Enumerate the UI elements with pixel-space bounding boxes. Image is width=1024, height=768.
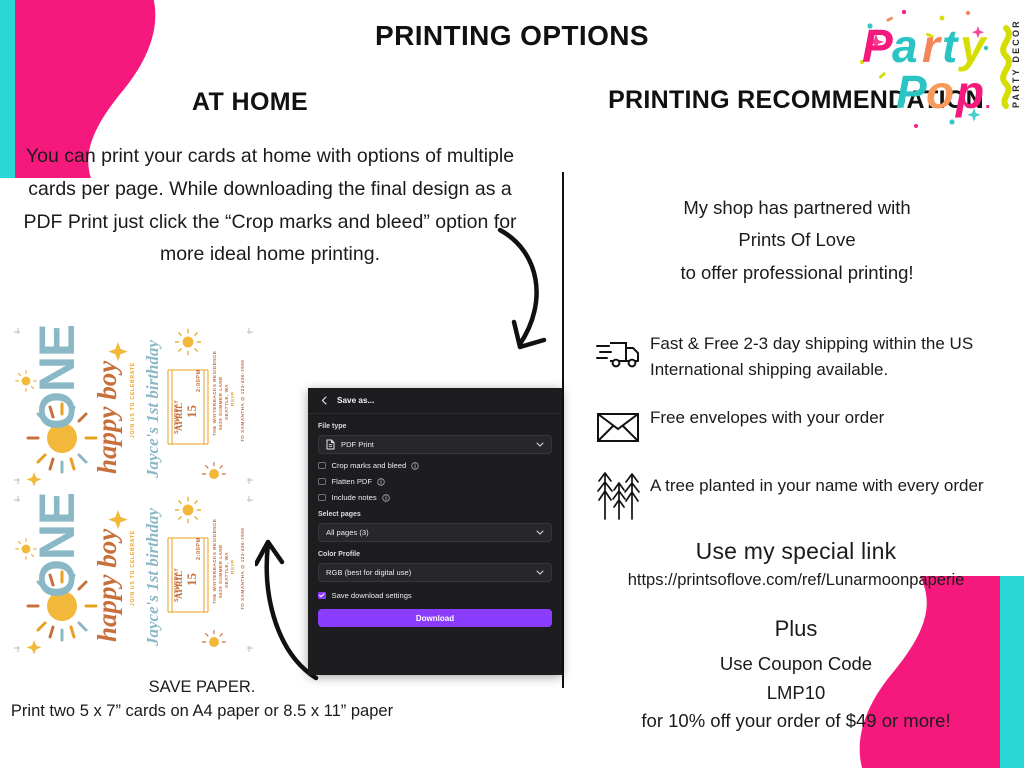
svg-text:SEATTLE, WA: SEATTLE, WA — [224, 384, 229, 420]
select-pages-value: All pages (3) — [326, 528, 369, 537]
coupon-code: LMP10 — [586, 679, 1006, 708]
column-divider — [562, 172, 564, 688]
svg-text:2:00PM: 2:00PM — [196, 537, 202, 560]
svg-text:RSVP: RSVP — [230, 559, 235, 574]
card-artwork-top: ONE happy boy JOIN US TO CELEBRATE Jayce… — [12, 326, 255, 486]
special-link-heading: Use my special link — [586, 538, 1006, 565]
save-paper-caption: SAVE PAPER. Print two 5 x 7” cards on A4… — [2, 676, 402, 724]
svg-text:r: r — [922, 20, 942, 72]
perk-tree: A tree planted in your name with every o… — [596, 472, 1006, 518]
dialog-header: Save as... — [308, 388, 562, 414]
svg-text:t: t — [942, 20, 959, 72]
file-icon — [326, 439, 335, 450]
dialog-title: Save as... — [337, 396, 374, 405]
coupon-line-1: Use Coupon Code — [586, 650, 1006, 679]
card-preview-top: ONE happy boy JOIN US TO CELEBRATE Jayce… — [12, 326, 255, 486]
select-pages-select[interactable]: All pages (3) — [318, 523, 552, 542]
svg-text:SEATTLE, WA: SEATTLE, WA — [224, 552, 229, 588]
chevron-down-icon[interactable] — [536, 528, 544, 537]
rec-line-3: to offer professional printing! — [592, 257, 1002, 289]
svg-text:o: o — [926, 66, 954, 118]
color-profile-value: RGB (best for digital use) — [326, 568, 411, 577]
save-as-dialog[interactable]: Save as... File type PDF Print — [308, 388, 562, 675]
coupon-block: Use Coupon Code LMP10 for 10% off your o… — [586, 650, 1006, 736]
file-type-value: PDF Print — [341, 440, 374, 449]
svg-text:15: 15 — [184, 405, 199, 419]
coupon-line-3: for 10% off your order of $49 or more! — [586, 707, 1006, 736]
checkbox-flatten-pdf-box[interactable] — [318, 478, 326, 486]
chevron-left-icon[interactable] — [318, 394, 331, 407]
svg-text:PARTY DECOR: PARTY DECOR — [1011, 19, 1021, 108]
save-paper-line-1: SAVE PAPER. — [2, 676, 402, 700]
svg-text:TO SAMANTHA @ 123-456-7899: TO SAMANTHA @ 123-456-7899 — [240, 528, 245, 610]
svg-text:.: . — [985, 91, 991, 113]
svg-text:p: p — [954, 66, 984, 118]
card-preview-bottom: ONE happy boy JOIN US TO CELEBRATE Jayce… — [12, 494, 255, 654]
card-artwork-bottom: ONE happy boy JOIN US TO CELEBRATE Jayce… — [12, 494, 255, 654]
svg-text:5628 SUMMER LANE: 5628 SUMMER LANE — [218, 376, 223, 430]
rec-line-2: Prints Of Love — [592, 224, 1002, 256]
checkbox-crop-marks-box[interactable] — [318, 462, 326, 470]
file-type-label: File type — [318, 423, 552, 430]
select-pages-label: Select pages — [318, 511, 552, 518]
checkbox-include-notes[interactable]: Include notes — [318, 493, 552, 502]
svg-text:a: a — [892, 20, 918, 72]
checkbox-include-notes-label: Include notes — [332, 493, 377, 502]
svg-text:ONE: ONE — [29, 494, 85, 598]
chevron-down-icon[interactable] — [536, 440, 544, 449]
spacer — [318, 542, 552, 551]
perk-shipping-text: Fast & Free 2-3 day shipping within the … — [650, 330, 1006, 382]
svg-text:APRIL: APRIL — [174, 403, 184, 431]
perk-envelopes-text: Free envelopes with your order — [650, 404, 884, 431]
checkbox-crop-marks-label: Crop marks and bleed — [332, 461, 407, 470]
checkbox-include-notes-box[interactable] — [318, 494, 326, 502]
svg-text:Jayce's 1st birthday: Jayce's 1st birthday — [143, 340, 162, 479]
info-icon[interactable] — [411, 462, 419, 470]
perk-tree-text: A tree planted in your name with every o… — [650, 472, 984, 499]
svg-text:happy boy: happy boy — [92, 528, 122, 642]
svg-text:RSVP: RSVP — [230, 391, 235, 406]
special-link-block: Use my special link https://printsoflove… — [586, 538, 1006, 736]
at-home-body: You can print your cards at home with op… — [22, 140, 518, 271]
perks-list: Fast & Free 2-3 day shipping within the … — [596, 330, 1006, 540]
special-link-url[interactable]: https://printsoflove.com/ref/Lunarmoonpa… — [586, 571, 1006, 590]
svg-text:5628 SUMMER LANE: 5628 SUMMER LANE — [218, 544, 223, 598]
brand-logo: P a r t y P o p . PARTY DECOR — [856, 4, 1024, 134]
truck-icon — [596, 330, 650, 376]
info-icon[interactable] — [377, 478, 385, 486]
envelope-icon — [596, 404, 650, 450]
info-icon[interactable] — [382, 494, 390, 502]
chevron-down-icon[interactable] — [536, 568, 544, 577]
download-button[interactable]: Download — [318, 609, 552, 627]
trees-icon — [596, 472, 650, 518]
checkbox-save-settings[interactable]: Save download settings — [318, 591, 552, 600]
perk-shipping: Fast & Free 2-3 day shipping within the … — [596, 330, 1006, 382]
svg-text:JOIN US TO CELEBRATE: JOIN US TO CELEBRATE — [130, 362, 136, 438]
svg-text:ONE: ONE — [29, 326, 85, 430]
printing-recommendation-body: My shop has partnered with Prints Of Lov… — [592, 192, 1002, 289]
perk-envelopes: Free envelopes with your order — [596, 404, 1006, 450]
color-profile-label: Color Profile — [318, 551, 552, 558]
color-profile-select[interactable]: RGB (best for digital use) — [318, 563, 552, 582]
svg-text:TO SAMANTHA @ 123-456-7899: TO SAMANTHA @ 123-456-7899 — [240, 360, 245, 442]
checkbox-save-settings-label: Save download settings — [332, 591, 412, 600]
svg-text:y: y — [958, 20, 988, 72]
svg-text:JOIN US TO CELEBRATE: JOIN US TO CELEBRATE — [130, 530, 136, 606]
svg-text:THE WINTERBACKS RESIDENCE: THE WINTERBACKS RESIDENCE — [212, 351, 217, 437]
checkbox-flatten-pdf[interactable]: Flatten PDF — [318, 477, 552, 486]
poster-canvas: PRINTING OPTIONS AT HOME PRINTING RECOMM… — [0, 0, 1024, 768]
svg-text:2:00PM: 2:00PM — [196, 369, 202, 392]
file-type-select[interactable]: PDF Print — [318, 435, 552, 454]
save-paper-line-2: Print two 5 x 7” cards on A4 paper or 8.… — [2, 700, 402, 724]
svg-text:APRIL: APRIL — [174, 571, 184, 599]
plus-label: Plus — [586, 616, 1006, 642]
svg-text:P: P — [896, 66, 927, 118]
svg-text:P: P — [862, 20, 893, 72]
checkbox-save-settings-box[interactable] — [318, 592, 326, 600]
checkbox-flatten-pdf-label: Flatten PDF — [332, 477, 373, 486]
checkbox-crop-marks[interactable]: Crop marks and bleed — [318, 461, 552, 470]
spacer — [318, 502, 552, 511]
at-home-heading: AT HOME — [40, 88, 460, 117]
svg-text:happy boy: happy boy — [92, 360, 122, 474]
svg-text:THE WINTERBACKS RESIDENCE: THE WINTERBACKS RESIDENCE — [212, 519, 217, 605]
svg-text:Jayce's 1st birthday: Jayce's 1st birthday — [143, 508, 162, 647]
svg-text:15: 15 — [184, 573, 199, 587]
rec-line-1: My shop has partnered with — [592, 192, 1002, 224]
dialog-body: File type PDF Print Crop marks and bleed — [308, 414, 562, 627]
